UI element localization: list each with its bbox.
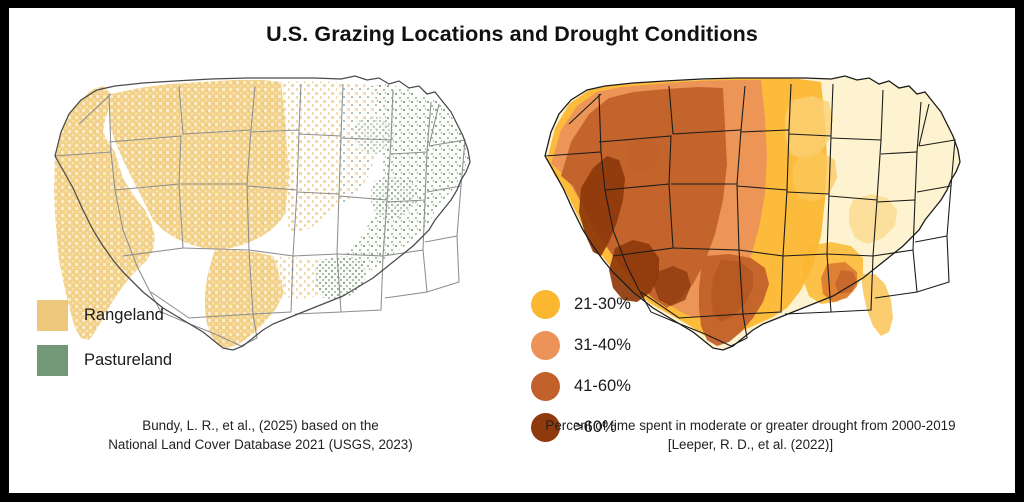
drought-dot-21-30	[531, 290, 560, 319]
drought-caption-line1: Percent of time spent in moderate or gre…	[509, 416, 992, 435]
pastureland-swatch	[37, 345, 68, 376]
drought-label-41-60: 41-60%	[574, 377, 631, 396]
page-title: U.S. Grazing Locations and Drought Condi…	[9, 22, 1015, 47]
figure-frame: U.S. Grazing Locations and Drought Condi…	[0, 0, 1024, 502]
grazing-legend: Rangeland Pastureland	[37, 300, 172, 390]
drought-label-31-40: 31-40%	[574, 336, 631, 355]
legend-item-21-30[interactable]: 21-30%	[531, 290, 631, 319]
rangeland-label: Rangeland	[84, 306, 164, 325]
drought-dot-31-40	[531, 331, 560, 360]
legend-item-rangeland[interactable]: Rangeland	[37, 300, 172, 331]
legend-item-41-60[interactable]: 41-60%	[531, 372, 631, 401]
legend-item-pastureland[interactable]: Pastureland	[37, 345, 172, 376]
drought-caption-line2: [Leeper, R. D., et al. (2022)]	[509, 435, 992, 454]
rangeland-swatch	[37, 300, 68, 331]
figure-canvas: U.S. Grazing Locations and Drought Condi…	[9, 8, 1015, 493]
pastureland-label: Pastureland	[84, 351, 172, 370]
drought-caption: Percent of time spent in moderate or gre…	[509, 416, 992, 454]
drought-conditions-panel: 21-30% 31-40% 41-60% >60% Percent of tim…	[509, 60, 992, 440]
grazing-caption: Bundy, L. R., et al., (2025) based on th…	[19, 416, 502, 454]
grazing-locations-panel: Rangeland Pastureland Bundy, L. R., et a…	[19, 60, 502, 440]
grazing-caption-line1: Bundy, L. R., et al., (2025) based on th…	[19, 416, 502, 435]
drought-label-21-30: 21-30%	[574, 295, 631, 314]
legend-item-31-40[interactable]: 31-40%	[531, 331, 631, 360]
grazing-caption-line2: National Land Cover Database 2021 (USGS,…	[19, 435, 502, 454]
drought-dot-41-60	[531, 372, 560, 401]
